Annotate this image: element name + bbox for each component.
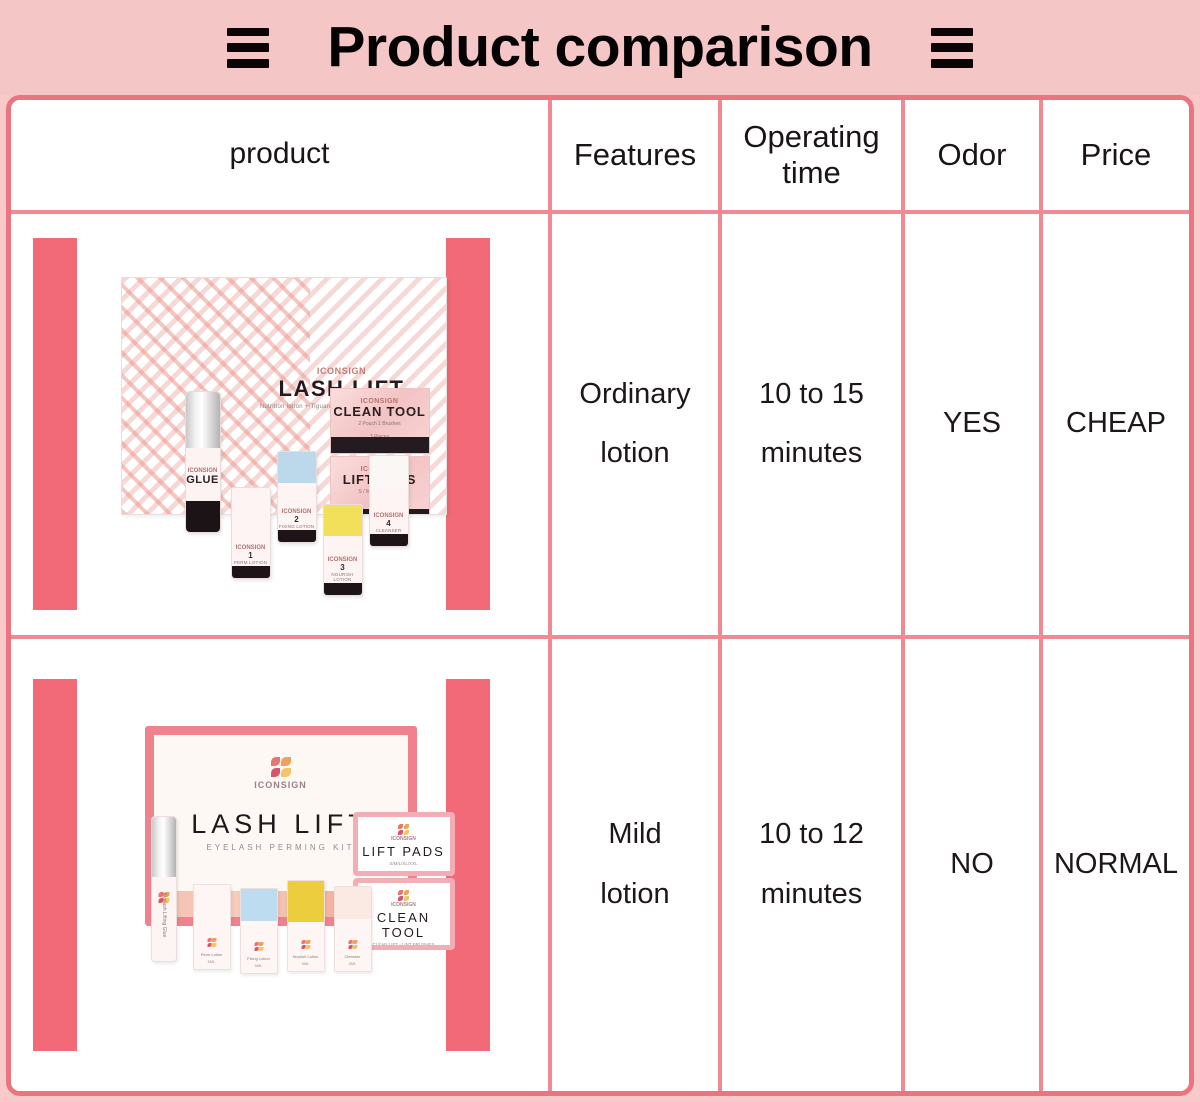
cell-odor-1: YES [901, 210, 1039, 635]
table-header-row: product Features Operating time Odor Pri… [11, 100, 1189, 210]
bottle-volume: 5ML [194, 959, 230, 964]
features-value: Ordinary lotion [552, 365, 718, 484]
product-comparison-table: product Features Operating time Odor Pri… [6, 95, 1194, 1096]
bottle-name: FIXING LOTION [278, 524, 316, 529]
tube-foot [186, 501, 220, 532]
iconsign-logo-icon [348, 940, 357, 949]
bottle-name: Perm Lotion [194, 952, 230, 957]
accent-bar-left [33, 238, 77, 610]
features-value: Mild lotion [552, 805, 718, 924]
cell-operating-time-2: 10 to 12 minutes [718, 635, 901, 1091]
column-header-product: product [11, 100, 548, 210]
hamburger-bar [227, 43, 269, 52]
bottle-name: PERM LOTION [232, 560, 270, 565]
product-kit-illustration-2: ICONSIGN LASH LIFT EYELASH PERMING KIT I… [105, 700, 455, 1030]
page-title: Product comparison [327, 19, 872, 76]
glue-tube: ICONSIGN GLUE [185, 391, 221, 533]
bottle-4: ICONSIGN 4 CLEANSER [369, 455, 409, 547]
bottle-number: 4 [370, 519, 408, 528]
bottle-name: Nourish Lotion [288, 954, 324, 959]
operating-time-value: 10 to 15 minutes [722, 365, 901, 484]
bottle-label: ICONSIGN 4 CLEANSER [370, 513, 408, 533]
bottle-2: ICONSIGN 2 FIXING LOTION [277, 451, 317, 543]
iconsign-logo-icon [398, 824, 409, 835]
bottle-name: Cleanser [335, 954, 371, 959]
tube-cap [186, 392, 220, 448]
bottle-name: NOURISH LOTION [324, 572, 362, 582]
bottle-liquid [241, 889, 277, 921]
bottle-liquid [370, 456, 408, 487]
product-image-cell-1[interactable]: ICONSIGN LASH LIFT Nutrition lotion + Ti… [11, 210, 548, 635]
brand-label: ICONSIGN [186, 468, 220, 474]
page-header: Product comparison [0, 0, 1200, 95]
lift-pads-box: ICONSIGN LIFT PADS S/M/L/XL/XXL 5 pairs [353, 812, 455, 876]
bottle-volume: 5ML [335, 961, 371, 966]
bottle-liquid [335, 887, 371, 919]
bottle-1: Perm Lotion 5ML [193, 884, 231, 970]
odor-value: NO [905, 846, 1039, 884]
bottle-2: Fixing Lotion 5ML [240, 888, 278, 974]
hamburger-bar [931, 28, 973, 37]
bottle-liquid [324, 505, 362, 536]
cell-price-2: NORMAL [1039, 635, 1189, 1091]
iconsign-logo-icon [301, 940, 310, 949]
tube-name: GLUE [186, 474, 220, 486]
bottle-foot [324, 583, 362, 595]
bottle-label: ICONSIGN 1 PERM LOTION [232, 545, 270, 565]
hamburger-bar [931, 43, 973, 52]
column-header-price: Price [1039, 100, 1189, 210]
bottle-number: 3 [324, 563, 362, 572]
menu-hamburger-icon-left[interactable] [227, 28, 269, 68]
box-title: LIFT PADS [358, 844, 450, 859]
box-subtitle: 2 Pouch 1 Brushes [331, 421, 429, 427]
bottle-volume: 5ML [241, 963, 277, 968]
bottle-label: ICONSIGN 3 NOURISH LOTION [324, 557, 362, 582]
bottle-4: Cleanser 5ML [334, 886, 372, 972]
bottle-label: ICONSIGN 2 FIXING LOTION [278, 509, 316, 529]
bottle-foot [370, 534, 408, 546]
box-subtitle: S/M/L/XL/XXL [358, 861, 450, 866]
bottle-number: 2 [278, 515, 316, 524]
bottle-liquid [278, 452, 316, 483]
box-title: CLEAN TOOL [331, 405, 429, 419]
box-quantity: 5 pairs [358, 871, 450, 876]
bottle-3: Nourish Lotion 5ML [287, 880, 325, 972]
bottle-foot [278, 530, 316, 542]
clean-tool-box: ICONSIGN CLEAN TOOL 2 Pouch 1 Brushes 3 … [330, 388, 430, 454]
bottle-liquid [288, 881, 324, 922]
hamburger-bar [931, 59, 973, 68]
column-header-features: Features [548, 100, 718, 210]
table-row[interactable]: ICONSIGN LASH LIFT Nutrition lotion + Ti… [11, 210, 1189, 635]
comparison-table-wrapper: product Features Operating time Odor Pri… [0, 95, 1200, 1102]
box-band [331, 437, 429, 453]
tube-cap [152, 817, 176, 877]
column-header-odor: Odor [901, 100, 1039, 210]
odor-value: YES [905, 405, 1039, 443]
price-value: CHEAP [1043, 405, 1189, 443]
cell-odor-2: NO [901, 635, 1039, 1091]
column-header-operating-time: Operating time [718, 100, 901, 210]
hamburger-bar [227, 59, 269, 68]
bottle-liquid [194, 885, 230, 917]
menu-hamburger-icon-right[interactable] [931, 28, 973, 68]
iconsign-logo-icon [254, 942, 263, 951]
bottle-1: ICONSIGN 1 PERM LOTION [231, 487, 271, 579]
product-photo-1: ICONSIGN LASH LIFT Nutrition lotion + Ti… [11, 214, 548, 635]
brand-label: ICONSIGN [154, 780, 408, 790]
iconsign-logo-icon [398, 890, 409, 901]
product-image-cell-2[interactable]: ICONSIGN LASH LIFT EYELASH PERMING KIT I… [11, 635, 548, 1091]
cell-features-2: Mild lotion [548, 635, 718, 1091]
bottle-number: 1 [232, 551, 270, 560]
cell-price-1: CHEAP [1039, 210, 1189, 635]
cell-operating-time-1: 10 to 15 minutes [718, 210, 901, 635]
table-row[interactable]: ICONSIGN LASH LIFT EYELASH PERMING KIT I… [11, 635, 1189, 1091]
tube-label: ICONSIGN GLUE [186, 468, 220, 486]
bottle-3: ICONSIGN 3 NOURISH LOTION [323, 504, 363, 596]
accent-bar-left [33, 679, 77, 1051]
product-photo-2: ICONSIGN LASH LIFT EYELASH PERMING KIT I… [11, 639, 548, 1091]
brand-label: ICONSIGN [358, 836, 450, 842]
bottle-volume: 5ML [288, 961, 324, 966]
bottle-name: CLEANSER [370, 528, 408, 533]
glue-tube: Eyelash Lifting Glue [151, 816, 177, 962]
bottle-foot [232, 566, 270, 578]
iconsign-logo-icon [271, 757, 291, 777]
iconsign-logo-icon [207, 938, 216, 947]
bottle-name: Fixing Lotion [241, 956, 277, 961]
price-value: NORMAL [1043, 846, 1189, 884]
product-kit-illustration-1: ICONSIGN LASH LIFT Nutrition lotion + Ti… [105, 259, 455, 589]
bottle-liquid [232, 488, 270, 519]
cell-features-1: Ordinary lotion [548, 210, 718, 635]
operating-time-value: 10 to 12 minutes [722, 805, 901, 924]
tube-name: Eyelash Lifting Glue [161, 893, 167, 937]
brand-label: ICONSIGN [252, 366, 432, 376]
hamburger-bar [227, 28, 269, 37]
